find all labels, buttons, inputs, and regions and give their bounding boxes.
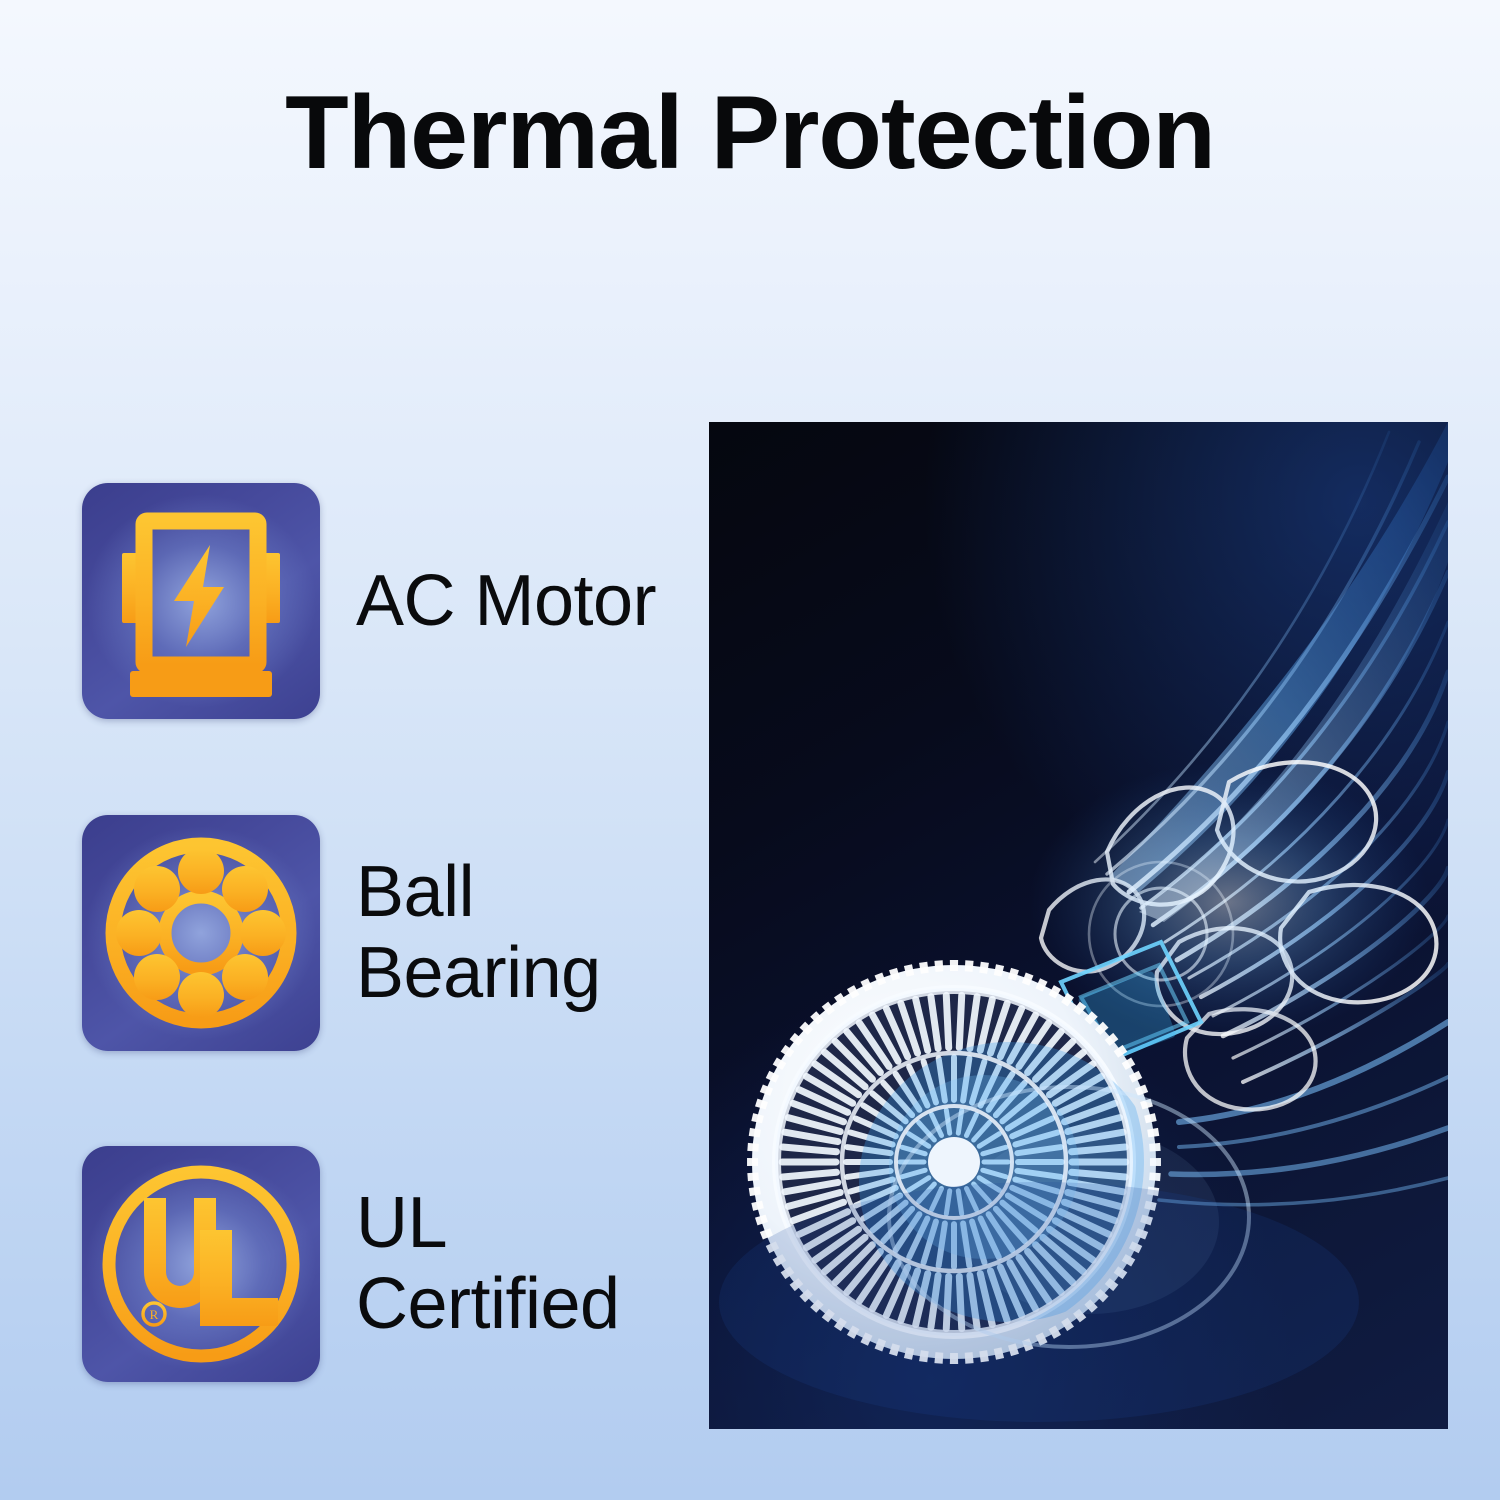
thermal-protection-infographic: Thermal Protection [0, 0, 1500, 1500]
feature-tile-ac-motor [82, 483, 320, 719]
ac-motor-icon [82, 483, 320, 719]
fan-motor-illustration [709, 422, 1448, 1429]
feature-item-ac-motor: AC Motor [82, 483, 656, 719]
ul-certified-icon: R [82, 1146, 320, 1382]
page-title: Thermal Protection [0, 76, 1500, 190]
feature-tile-ul-certified: R [82, 1146, 320, 1382]
feature-item-ul-certified: R UL Certified [82, 1146, 620, 1382]
feature-label-ul-certified: UL Certified [356, 1183, 620, 1344]
feature-label-ball-bearing: Ball Bearing [356, 852, 601, 1013]
feature-tile-ball-bearing [82, 815, 320, 1051]
ball-bearing-icon [82, 815, 320, 1051]
feature-item-ball-bearing: Ball Bearing [82, 815, 601, 1051]
feature-label-ac-motor: AC Motor [356, 561, 656, 642]
svg-text:R: R [150, 1307, 159, 1322]
product-image-fan-motor [709, 422, 1448, 1429]
